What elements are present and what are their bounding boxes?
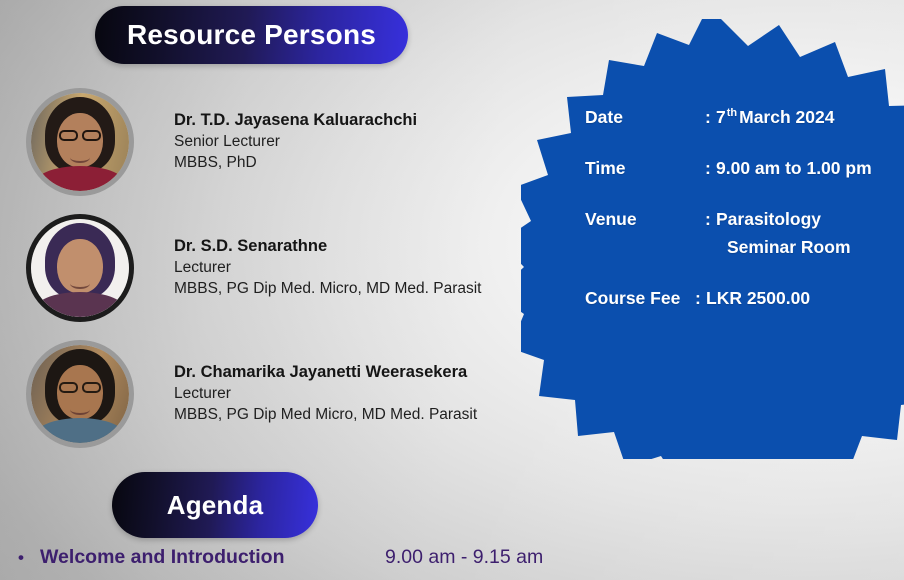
resource-person-text: Dr. Chamarika Jayanetti Weerasekera Lect… <box>174 362 477 425</box>
agenda-list-item: • Welcome and Introduction 9.00 am - 9.1… <box>18 546 718 569</box>
event-details-list: Date : 7thMarch 2024 Time : 9.00 am to 1… <box>585 107 904 309</box>
agenda-heading-text: Agenda <box>167 490 264 521</box>
agenda-heading-pill: Agenda <box>112 472 318 538</box>
detail-label-course-fee: Course Fee <box>585 288 695 309</box>
detail-label-time: Time <box>585 158 705 179</box>
agenda-item-title: Welcome and Introduction <box>40 546 385 569</box>
detail-value-date: 7thMarch 2024 <box>716 107 904 128</box>
detail-separator: : <box>705 209 716 230</box>
detail-value-course-fee: LKR 2500.00 <box>706 288 904 309</box>
portrait-photo <box>31 219 129 317</box>
resource-person-text: Dr. T.D. Jayasena Kaluarachchi Senior Le… <box>174 110 417 173</box>
poster-canvas: Resource Persons Dr. T.D. Jayasena Kalua… <box>0 0 904 580</box>
resource-person-qualifications: MBBS, PG Dip Med Micro, MD Med. Parasit <box>174 405 477 426</box>
avatar <box>26 340 134 448</box>
resource-person-name: Dr. Chamarika Jayanetti Weerasekera <box>174 362 477 384</box>
detail-separator: : <box>695 288 706 309</box>
agenda-item-time: 9.00 am - 9.15 am <box>385 546 543 569</box>
resource-person-row: Dr. Chamarika Jayanetti Weerasekera Lect… <box>26 340 477 448</box>
agenda-item-list: • Welcome and Introduction 9.00 am - 9.1… <box>18 546 718 569</box>
date-day: 7 <box>716 107 726 127</box>
portrait-photo <box>31 93 129 191</box>
detail-row-date: Date : 7thMarch 2024 <box>585 107 904 128</box>
resource-person-name: Dr. T.D. Jayasena Kaluarachchi <box>174 110 417 132</box>
detail-separator: : <box>705 158 716 179</box>
resource-person-row: Dr. S.D. Senarathne Lecturer MBBS, PG Di… <box>26 214 482 322</box>
detail-row-venue: Venue : Parasitology Seminar Room <box>585 209 904 258</box>
avatar <box>26 88 134 196</box>
venue-line-2: Seminar Room <box>716 237 904 258</box>
resource-persons-heading-pill: Resource Persons <box>95 6 408 64</box>
resource-person-name: Dr. S.D. Senarathne <box>174 236 482 258</box>
detail-label-venue: Venue <box>585 209 705 230</box>
resource-person-row: Dr. T.D. Jayasena Kaluarachchi Senior Le… <box>26 88 417 196</box>
portrait-photo <box>31 345 129 443</box>
detail-row-time: Time : 9.00 am to 1.00 pm <box>585 158 904 179</box>
resource-person-qualifications: MBBS, PhD <box>174 153 417 174</box>
bullet-icon: • <box>18 549 40 566</box>
detail-label-date: Date <box>585 107 705 128</box>
resource-person-role: Senior Lecturer <box>174 132 417 153</box>
detail-row-course-fee: Course Fee : LKR 2500.00 <box>585 288 904 309</box>
venue-line-1: Parasitology <box>716 209 821 229</box>
date-month-year: March 2024 <box>739 107 834 127</box>
detail-value-time: 9.00 am to 1.00 pm <box>716 158 904 179</box>
avatar <box>26 214 134 322</box>
detail-value-venue: Parasitology Seminar Room <box>716 209 904 258</box>
resource-person-qualifications: MBBS, PG Dip Med. Micro, MD Med. Parasit <box>174 279 482 300</box>
event-details-starburst-badge: Date : 7thMarch 2024 Time : 9.00 am to 1… <box>521 19 904 459</box>
resource-persons-heading-text: Resource Persons <box>127 19 376 51</box>
detail-separator: : <box>705 107 716 128</box>
resource-person-role: Lecturer <box>174 258 482 279</box>
resource-person-text: Dr. S.D. Senarathne Lecturer MBBS, PG Di… <box>174 236 482 299</box>
resource-person-role: Lecturer <box>174 384 477 405</box>
date-ordinal-suffix: th <box>727 107 737 119</box>
